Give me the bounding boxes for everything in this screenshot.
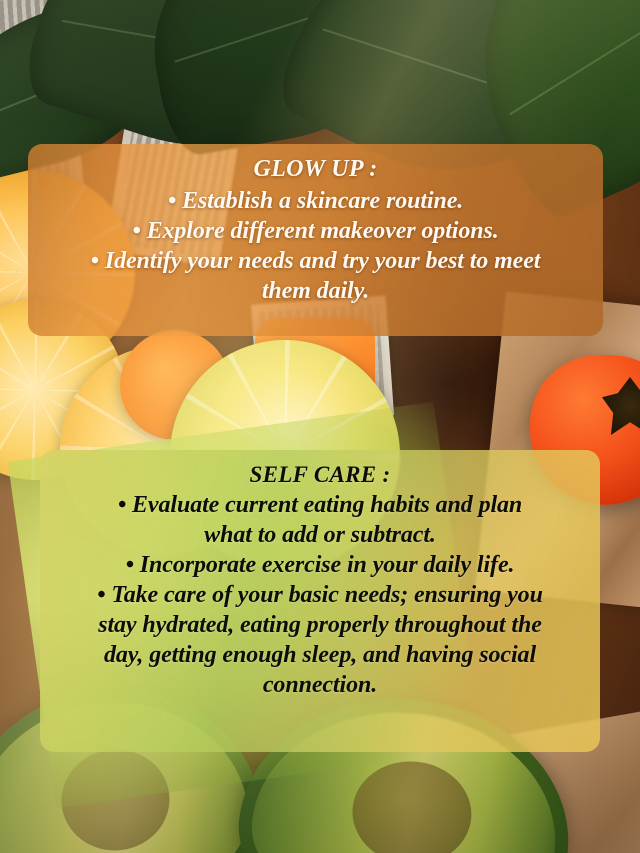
self-care-title: SELF CARE : bbox=[52, 460, 588, 489]
self-care-line-7: connection. bbox=[52, 670, 588, 700]
self-care-line-5: stay hydrated, eating properly throughou… bbox=[52, 610, 588, 640]
glow-up-card: GLOW UP : • Establish a skincare routine… bbox=[28, 144, 603, 336]
glow-up-line-4: them daily. bbox=[42, 276, 589, 306]
poster-canvas: Mr. reule er, th se has birth am's kn ol… bbox=[0, 0, 640, 853]
glow-up-line-2: • Explore different makeover options. bbox=[42, 216, 589, 246]
self-care-card: SELF CARE : • Evaluate current eating ha… bbox=[40, 450, 600, 752]
glow-up-line-3: • Identify your needs and try your best … bbox=[42, 246, 589, 276]
self-care-line-3: • Incorporate exercise in your daily lif… bbox=[52, 550, 588, 580]
self-care-line-1: • Evaluate current eating habits and pla… bbox=[52, 490, 588, 520]
self-care-line-4: • Take care of your basic needs; ensurin… bbox=[52, 580, 588, 610]
glow-up-line-1: • Establish a skincare routine. bbox=[42, 186, 589, 216]
self-care-line-6: day, getting enough sleep, and having so… bbox=[52, 640, 588, 670]
glow-up-title: GLOW UP : bbox=[42, 154, 589, 185]
self-care-line-2: what to add or subtract. bbox=[52, 520, 588, 550]
